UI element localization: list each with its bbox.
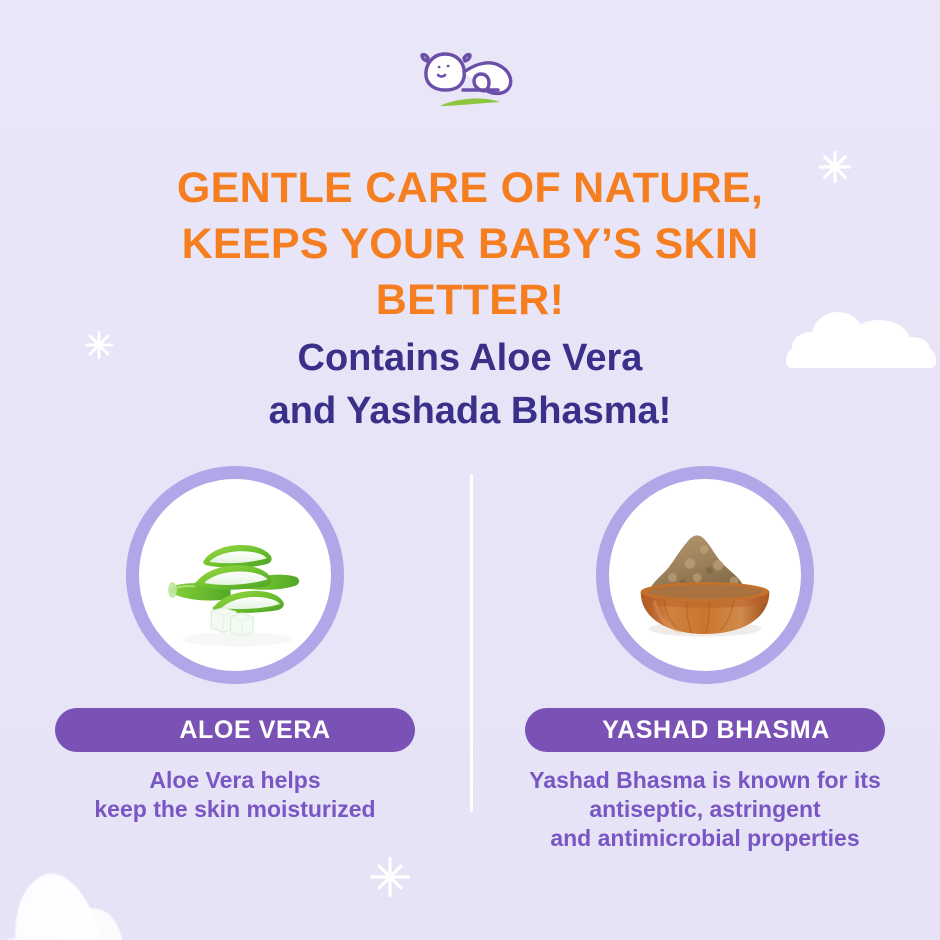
ingredients-row: ALOE VERA Aloe Vera helps keep the skin … [0, 466, 940, 853]
description-line: Aloe Vera helps [94, 766, 375, 795]
ingredient-card-aloe-vera: ALOE VERA Aloe Vera helps keep the skin … [0, 466, 470, 853]
headline-block: GENTLE CARE OF NATURE, KEEPS YOUR BABY’S… [0, 160, 940, 438]
subheading-line-2: and Yashada Bhasma! [0, 385, 940, 438]
ingredient-description-aloe-vera: Aloe Vera helps keep the skin moisturize… [94, 766, 375, 824]
brand-logo [0, 34, 940, 116]
sparkle-icon [368, 855, 412, 899]
headline-line-2: KEEPS YOUR BABY’S SKIN [0, 216, 940, 272]
description-line: and antimicrobial properties [529, 824, 881, 853]
yashad-bhasma-image [596, 466, 814, 684]
ingredient-label-aloe-vera: ALOE VERA [55, 708, 415, 752]
sleeping-baby-logo-icon [414, 34, 526, 116]
ingredient-label-yashad-bhasma: YASHAD BHASMA [525, 708, 885, 752]
description-line: antiseptic, astringent [529, 795, 881, 824]
ingredient-card-yashad-bhasma: YASHAD BHASMA Yashad Bhasma is known for… [470, 466, 940, 853]
promo-poster: GENTLE CARE OF NATURE, KEEPS YOUR BABY’S… [0, 0, 940, 940]
aloe-vera-image [126, 466, 344, 684]
headline-line-3: BETTER! [0, 272, 940, 328]
description-line: Yashad Bhasma is known for its [529, 766, 881, 795]
headline-line-1: GENTLE CARE OF NATURE, [0, 160, 940, 216]
description-line: keep the skin moisturized [94, 795, 375, 824]
ingredient-description-yashad-bhasma: Yashad Bhasma is known for its antisepti… [529, 766, 881, 853]
subheading-line-1: Contains Aloe Vera [0, 332, 940, 385]
cream-swirl-icon [0, 844, 156, 940]
